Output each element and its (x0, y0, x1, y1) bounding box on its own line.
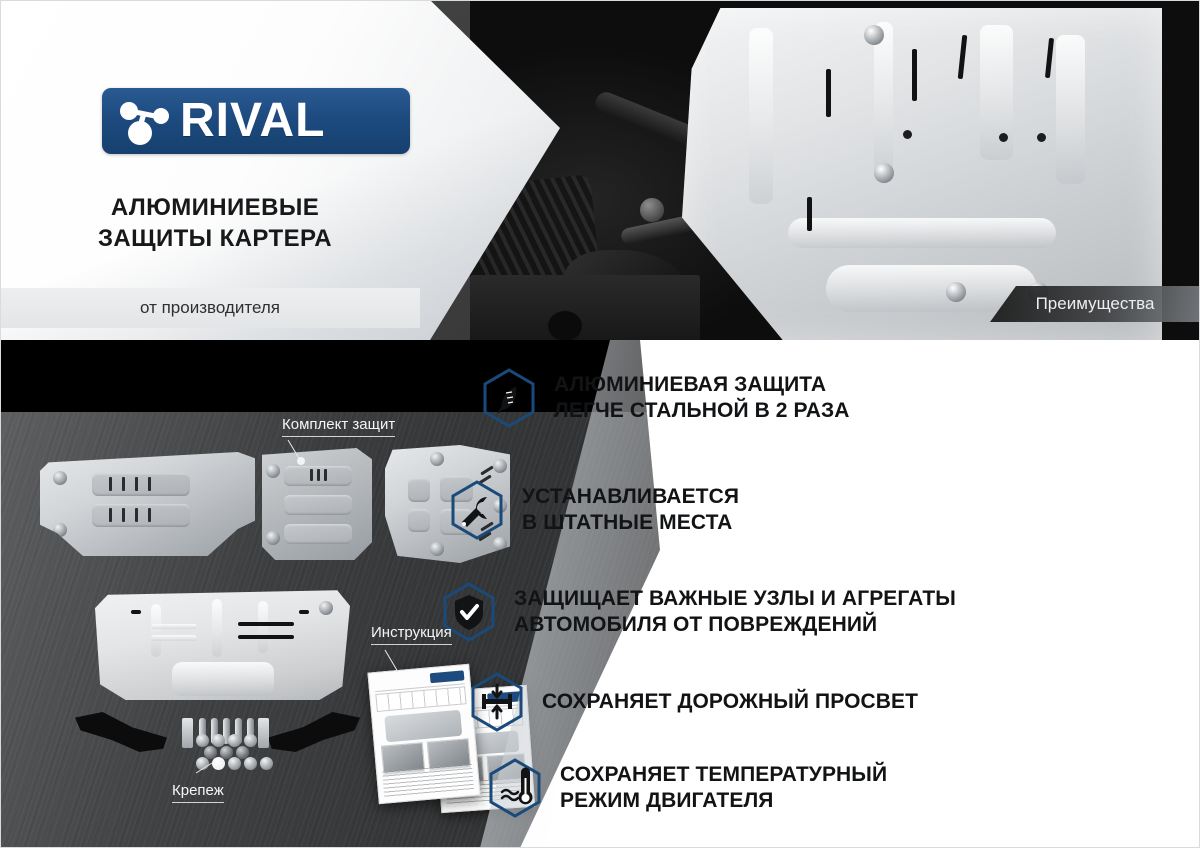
callout-kit: Комплект защит (282, 416, 395, 437)
washer (212, 734, 225, 747)
feature-text-weight: АЛЮМИНИЕВАЯ ЗАЩИТА ЛЕГЧЕ СТАЛЬНОЙ В 2 РА… (554, 372, 850, 423)
rival-wordmark: RIVAL (180, 97, 325, 145)
skid-plate-2 (262, 448, 372, 560)
feature-text-fitment: УСТАНАВЛИВАЕТСЯ В ШТАТНЫЕ МЕСТА (522, 484, 739, 535)
subtitle-bar: от производителя (0, 288, 420, 328)
feature-item-fitment: УСТАНАВЛИВАЕТСЯ В ШТАТНЫЕ МЕСТА (450, 480, 739, 540)
washer (244, 757, 257, 770)
skid-plate-1 (40, 452, 255, 556)
washer (244, 734, 257, 747)
leaf-icon (482, 368, 536, 428)
product-banner: Комплект защит Инструкция Крепеж RIVAL А… (0, 0, 1200, 848)
advantages-tab-label: Преимущества (1036, 294, 1155, 314)
headline-line-2: ЗАЩИТЫ КАРТЕРА (0, 223, 430, 254)
underbody-panel (470, 275, 700, 348)
washer (228, 757, 241, 770)
feature-item-protection: ЗАЩИЩАЕТ ВАЖНЫЕ УЗЛЫ И АГРЕГАТЫ АВТОМОБИ… (442, 582, 956, 642)
molecule-icon (116, 95, 178, 147)
advantages-tab: Преимущества (990, 286, 1200, 322)
feature-text-protection: ЗАЩИЩАЕТ ВАЖНЫЕ УЗЛЫ И АГРЕГАТЫ АВТОМОБИ… (514, 586, 956, 637)
spacer-strip-left (182, 718, 193, 748)
wrench-icon (450, 480, 504, 540)
feature-text-temperature: СОХРАНЯЕТ ТЕМПЕРАТУРНЫЙ РЕЖИМ ДВИГАТЕЛЯ (560, 762, 887, 813)
feature-text-clearance: СОХРАНЯЕТ ДОРОЖНЫЙ ПРОСВЕТ (542, 689, 918, 715)
callout-instruction: Инструкция (371, 624, 452, 645)
headline-line-1: АЛЮМИНИЕВЫЕ (0, 192, 430, 223)
washer-highlighted (212, 757, 225, 770)
callout-instruction-label: Инструкция (371, 624, 452, 645)
page-title: АЛЮМИНИЕВЫЕ ЗАЩИТЫ КАРТЕРА (0, 192, 430, 254)
feature-list: АЛЮМИНИЕВАЯ ЗАЩИТА ЛЕГЧЕ СТАЛЬНОЙ В 2 РА… (460, 340, 1200, 848)
spacer-strip-right (258, 718, 269, 748)
callout-kit-label: Комплект защит (282, 416, 395, 437)
callout-hardware-label: Крепеж (172, 782, 224, 803)
feature-item-weight: АЛЮМИНИЕВАЯ ЗАЩИТА ЛЕГЧЕ СТАЛЬНОЙ В 2 РА… (482, 368, 850, 428)
rival-logo: RIVAL (102, 88, 410, 154)
skid-plate-large (95, 588, 350, 700)
washer (196, 757, 209, 770)
washer (196, 734, 209, 747)
thermometer-icon (488, 758, 542, 818)
ball-joint (640, 198, 664, 222)
subtitle-text: от производителя (140, 298, 280, 318)
callout-hardware: Крепеж (172, 782, 224, 803)
feature-item-clearance: СОХРАНЯЕТ ДОРОЖНЫЙ ПРОСВЕТ (470, 672, 918, 732)
ground-clearance-icon (470, 672, 524, 732)
feature-item-temperature: СОХРАНЯЕТ ТЕМПЕРАТУРНЫЙ РЕЖИМ ДВИГАТЕЛЯ (488, 758, 887, 818)
washer (228, 734, 241, 747)
washer (260, 757, 273, 770)
